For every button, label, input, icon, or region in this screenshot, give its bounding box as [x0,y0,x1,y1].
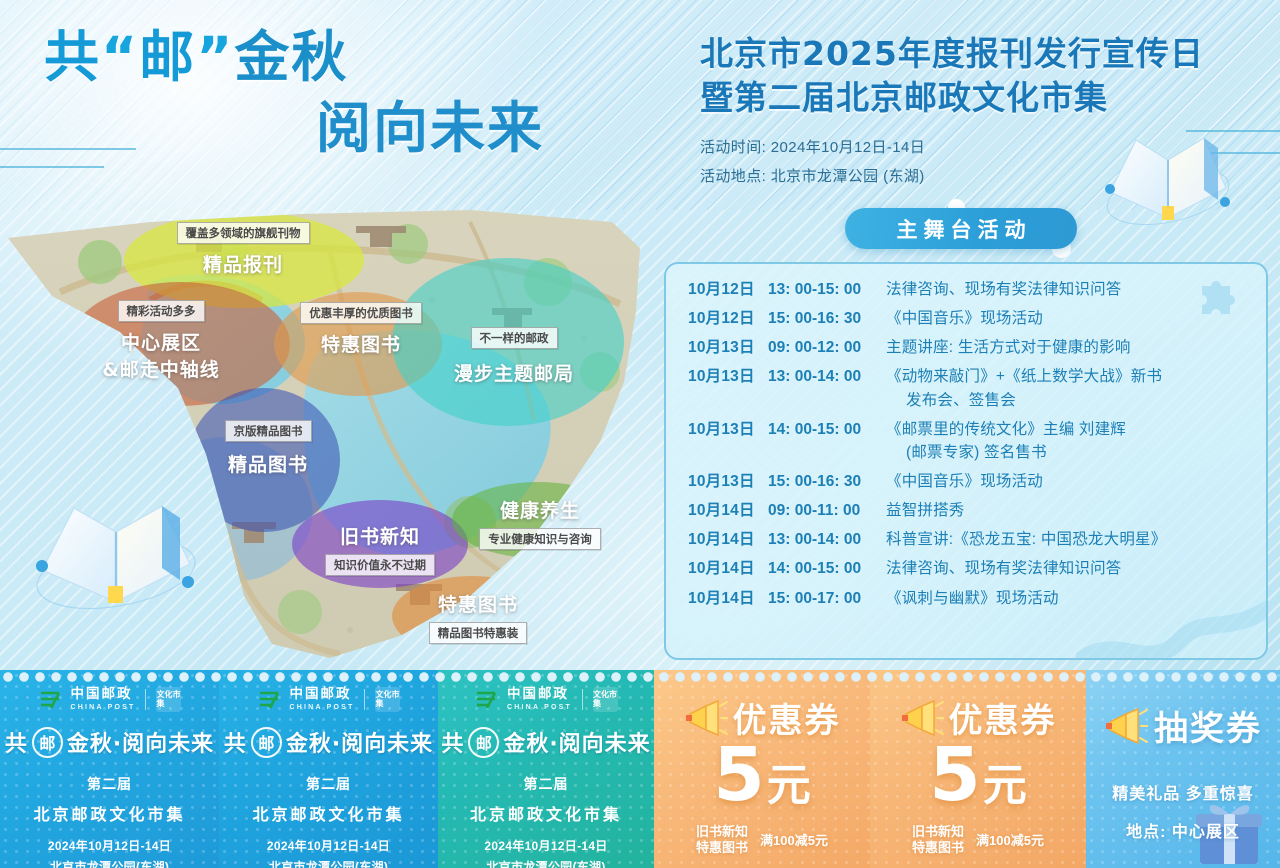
lottery-line2: 地点: 中心展区 [1126,818,1240,842]
schedule-desc: 《中国音乐》现场活动 [886,470,1250,494]
china-post-emblem-icon [474,689,500,711]
slogan-char-a: 共 [224,726,247,758]
schedule-date: 10月12日 [688,307,768,331]
stamp-ticket[interactable]: 中国邮政 CHINA POST 文化市集 共 邮 金秋·阅向未来 第二届 北京邮… [219,670,438,868]
decor-line-2 [0,166,104,168]
china-post-cn: 中国邮政 [71,688,136,702]
schedule-date: 10月14日 [688,557,768,581]
schedule-row: 10月14日14: 00-15: 00法律咨询、现场有奖法律知识问答 [688,557,1250,581]
schedule-desc: 《中国音乐》现场活动 [886,307,1250,331]
logo-divider [145,689,146,710]
schedule-date: 10月13日 [688,336,768,360]
open-book-icon [1092,126,1244,234]
schedule-desc-line2: 发布会、签售会 [886,389,1250,413]
slogan-circle-char: 邮 [39,730,55,754]
stamp-ticket-body: 中国邮政 CHINA POST 文化市集 共 邮 金秋·阅向未来 第二届 北京邮… [219,670,438,868]
slogan-char-b: 金秋·阅向未来 [503,726,650,758]
schedule-desc-line2: (邮票专家) 签名售书 [886,441,1250,465]
perforation-row-top [0,670,1280,684]
stamp-ticket-body: 中国邮政 CHINA POST 文化市集 共 邮 金秋·阅向未来 第二届 北京邮… [438,670,654,868]
schedule-row: 10月13日09: 00-12: 00主题讲座: 生活方式对于健康的影响 [688,336,1250,360]
coupon-amount: 5元 [713,738,811,812]
schedule-desc: 《讽刺与幽默》现场活动 [886,587,1250,611]
schedule-desc: 《动物来敲门》+《纸上数学大战》新书发布会、签售会 [886,365,1250,412]
schedule-time: 13: 00-15: 00 [768,278,886,302]
stamp-date: 2024年10月12日-14日 [48,837,171,854]
schedule-date: 10月13日 [688,365,768,389]
title-char-gong: 共 [44,25,101,89]
title-char-you: 邮 [139,25,196,89]
schedule-row: 10月13日14: 00-15: 00《邮票里的传统文化》主编 刘建辉(邮票专家… [688,418,1250,465]
stamp-ticket-body: 中国邮政 CHINA POST 文化市集 共 邮 金秋·阅向未来 第二届 北京邮… [0,670,219,868]
stamp-place: 北京市龙潭公园(东湖) [486,858,605,868]
china-post-emblem-icon [38,689,64,711]
schedule-time: 15: 00-16: 30 [768,307,886,331]
stamp-date: 2024年10月12日-14日 [484,837,607,854]
coupon-amount-unit: 元 [983,760,1027,811]
stamp-ticket[interactable]: 中国邮政 CHINA POST 文化市集 共 邮 金秋·阅向未来 第二届 北京邮… [438,670,654,868]
schedule-desc: 《邮票里的传统文化》主编 刘建辉(邮票专家) 签名售书 [886,418,1250,465]
main-title-line2: 阅向未来 [316,101,644,156]
schedule-row: 10月13日15: 00-16: 30《中国音乐》现场活动 [688,470,1250,494]
discount-coupon[interactable]: 优惠券 5元 旧书新知 特惠图书 满100减5元 [654,670,870,868]
china-post-en: CHINA POST [290,704,355,711]
schedule-time: 14: 00-15: 00 [768,418,886,442]
china-post-cn: 中国邮政 [290,688,355,702]
schedule-desc-line1: 《中国音乐》现场活动 [886,310,1043,327]
schedule-date: 10月14日 [688,528,768,552]
china-post-logo: 中国邮政 CHINA POST 文化市集 [474,687,618,712]
schedule-desc-line1: 益智拼搭秀 [886,502,965,519]
culture-market-seal: 文化市集 [156,687,181,712]
schedule-date: 10月14日 [688,499,768,523]
schedule-row: 10月14日13: 00-14: 00科普宣讲:《恐龙五宝: 中国恐龙大明星》 [688,528,1250,552]
slogan-circle-badge: 邮 [32,727,63,758]
title-quote-close: ” [196,25,234,89]
stamp-sub1: 第二届 [306,774,351,794]
main-stage-button-label: 主舞台活动 [891,214,1032,244]
schedule-time: 09: 00-11: 00 [768,499,886,523]
main-stage-button[interactable]: 主舞台活动 [845,208,1077,249]
schedule-time: 15: 00-16: 30 [768,470,886,494]
title-quote-open: “ [101,25,139,89]
coupon-body: 优惠券 5元 [654,670,870,868]
main-title: 共“邮”金秋 阅向未来 [44,30,644,156]
stamp-slogan: 共 邮 金秋·阅向未来 [224,726,433,758]
stamp-sub2: 北京邮政文化市集 [252,801,404,825]
schedule-desc-line1: 法律咨询、现场有奖法律知识问答 [886,560,1122,577]
china-post-logo: 中国邮政 CHINA POST 文化市集 [257,687,401,712]
ticket-strip: 中国邮政 CHINA POST 文化市集 共 邮 金秋·阅向未来 第二届 北京邮… [0,670,1280,868]
slogan-char-a: 共 [441,726,464,758]
lottery-header: 抽奖券 [1104,701,1262,750]
china-post-logo: 中国邮政 CHINA POST 文化市集 [38,687,182,712]
schedule-date: 10月12日 [688,278,768,302]
lottery-line1: 精美礼品 多重惊喜 [1112,780,1253,804]
slogan-char-b: 金秋·阅向未来 [67,726,214,758]
stamp-sub2: 北京邮政文化市集 [470,801,622,825]
schedule-time: 13: 00-14: 00 [768,528,886,552]
schedule-time: 13: 00-14: 00 [768,365,886,389]
schedule-desc-line1: 《讽刺与幽默》现场活动 [886,590,1059,607]
slogan-circle-char: 邮 [476,730,492,754]
poster-root: 共“邮”金秋 阅向未来 北京市2025年度报刊发行宣传日 暨第二届北京邮政文化市… [0,0,1280,868]
china-post-emblem-icon [257,689,283,711]
megaphone-icon [1104,706,1148,746]
china-post-cn: 中国邮政 [507,688,572,702]
slogan-circle-badge: 邮 [251,727,282,758]
schedule-desc: 主题讲座: 生活方式对于健康的影响 [886,336,1250,360]
lottery-title: 抽奖券 [1154,701,1262,750]
stamp-place: 北京市龙潭公园(东湖) [269,858,388,868]
schedule-date: 10月13日 [688,418,768,442]
discount-coupon[interactable]: 优惠券 5元 旧书新知 特惠图书 满100减5元 [870,670,1086,868]
china-post-name: 中国邮政 CHINA POST [71,688,136,711]
stamp-place: 北京市龙潭公园(东湖) [50,858,169,868]
coupon-body: 优惠券 5元 [870,670,1086,868]
title-word-jinqiu: 金秋 [234,25,348,89]
lottery-coupon[interactable]: 抽奖券 精美礼品 多重惊喜 地点: 中心展区 [1086,670,1280,868]
china-post-en: CHINA POST [507,704,572,711]
schedule-row: 10月12日15: 00-16: 30《中国音乐》现场活动 [688,307,1250,331]
china-post-name: 中国邮政 CHINA POST [290,688,355,711]
china-post-name: 中国邮政 CHINA POST [507,688,572,711]
schedule-desc-line1: 《邮票里的传统文化》主编 刘建辉 [886,421,1126,438]
schedule-desc-line1: 法律咨询、现场有奖法律知识问答 [886,281,1122,298]
culture-market-seal: 文化市集 [593,687,618,712]
slogan-circle-char: 邮 [258,730,274,754]
schedule-row: 10月12日13: 00-15: 00法律咨询、现场有奖法律知识问答 [688,278,1250,302]
event-title: 北京市2025年度报刊发行宣传日 暨第二届北京邮政文化市集 [700,32,1260,119]
slogan-char-b: 金秋·阅向未来 [286,726,433,758]
coupon-amount-number: 5 [713,732,765,818]
stamp-date: 2024年10月12日-14日 [267,837,390,854]
stamp-sub1: 第二届 [87,774,132,794]
schedule-desc-line1: 《中国音乐》现场活动 [886,473,1043,490]
schedule-row: 10月14日15: 00-17: 00《讽刺与幽默》现场活动 [688,587,1250,611]
logo-divider [582,689,583,710]
stamp-slogan: 共 邮 金秋·阅向未来 [441,726,650,758]
schedule-desc: 科普宣讲:《恐龙五宝: 中国恐龙大明星》 [886,528,1250,552]
stamp-ticket[interactable]: 中国邮政 CHINA POST 文化市集 共 邮 金秋·阅向未来 第二届 北京邮… [0,670,219,868]
schedule-desc: 法律咨询、现场有奖法律知识问答 [886,557,1250,581]
coupon-amount-unit: 元 [767,760,811,811]
park-map-graphic [0,192,668,670]
schedule-row: 10月14日09: 00-11: 00益智拼搭秀 [688,499,1250,523]
coupon-amount: 5元 [929,738,1027,812]
schedule-date: 10月13日 [688,470,768,494]
schedule-time: 09: 00-12: 00 [768,336,886,360]
culture-market-seal: 文化市集 [375,687,400,712]
schedule-desc: 法律咨询、现场有奖法律知识问答 [886,278,1250,302]
china-post-en: CHINA POST [71,704,136,711]
coupon-amount-number: 5 [929,732,981,818]
schedule-desc-line1: 《动物来敲门》+《纸上数学大战》新书 [886,368,1162,385]
schedule-time: 15: 00-17: 00 [768,587,886,611]
schedule-panel: 10月12日13: 00-15: 00法律咨询、现场有奖法律知识问答10月12日… [664,262,1268,660]
schedule-date: 10月14日 [688,587,768,611]
stamp-sub1: 第二届 [524,774,569,794]
slogan-circle-badge: 邮 [468,727,499,758]
park-map[interactable]: 覆盖多领域的旗舰刊物 精品报刊 精彩活动多多 中心展区 &邮走中轴线 优惠丰厚的… [0,192,668,670]
event-title-line1: 北京市2025年度报刊发行宣传日 [700,32,1260,76]
schedule-time: 14: 00-15: 00 [768,557,886,581]
schedule-desc: 益智拼搭秀 [886,499,1250,523]
schedule-desc-line1: 主题讲座: 生活方式对于健康的影响 [886,339,1131,356]
schedule-list: 10月12日13: 00-15: 00法律咨询、现场有奖法律知识问答10月12日… [666,264,1266,658]
main-title-line1: 共“邮”金秋 [44,30,644,85]
slogan-char-a: 共 [5,726,28,758]
event-title-line2: 暨第二届北京邮政文化市集 [700,76,1260,120]
stamp-slogan: 共 邮 金秋·阅向未来 [5,726,214,758]
schedule-desc-line1: 科普宣讲:《恐龙五宝: 中国恐龙大明星》 [886,531,1166,548]
stamp-sub2: 北京邮政文化市集 [33,801,185,825]
schedule-row: 10月13日13: 00-14: 00《动物来敲门》+《纸上数学大战》新书发布会… [688,365,1250,412]
logo-divider [364,689,365,710]
lottery-body: 抽奖券 精美礼品 多重惊喜 地点: 中心展区 [1086,670,1280,868]
